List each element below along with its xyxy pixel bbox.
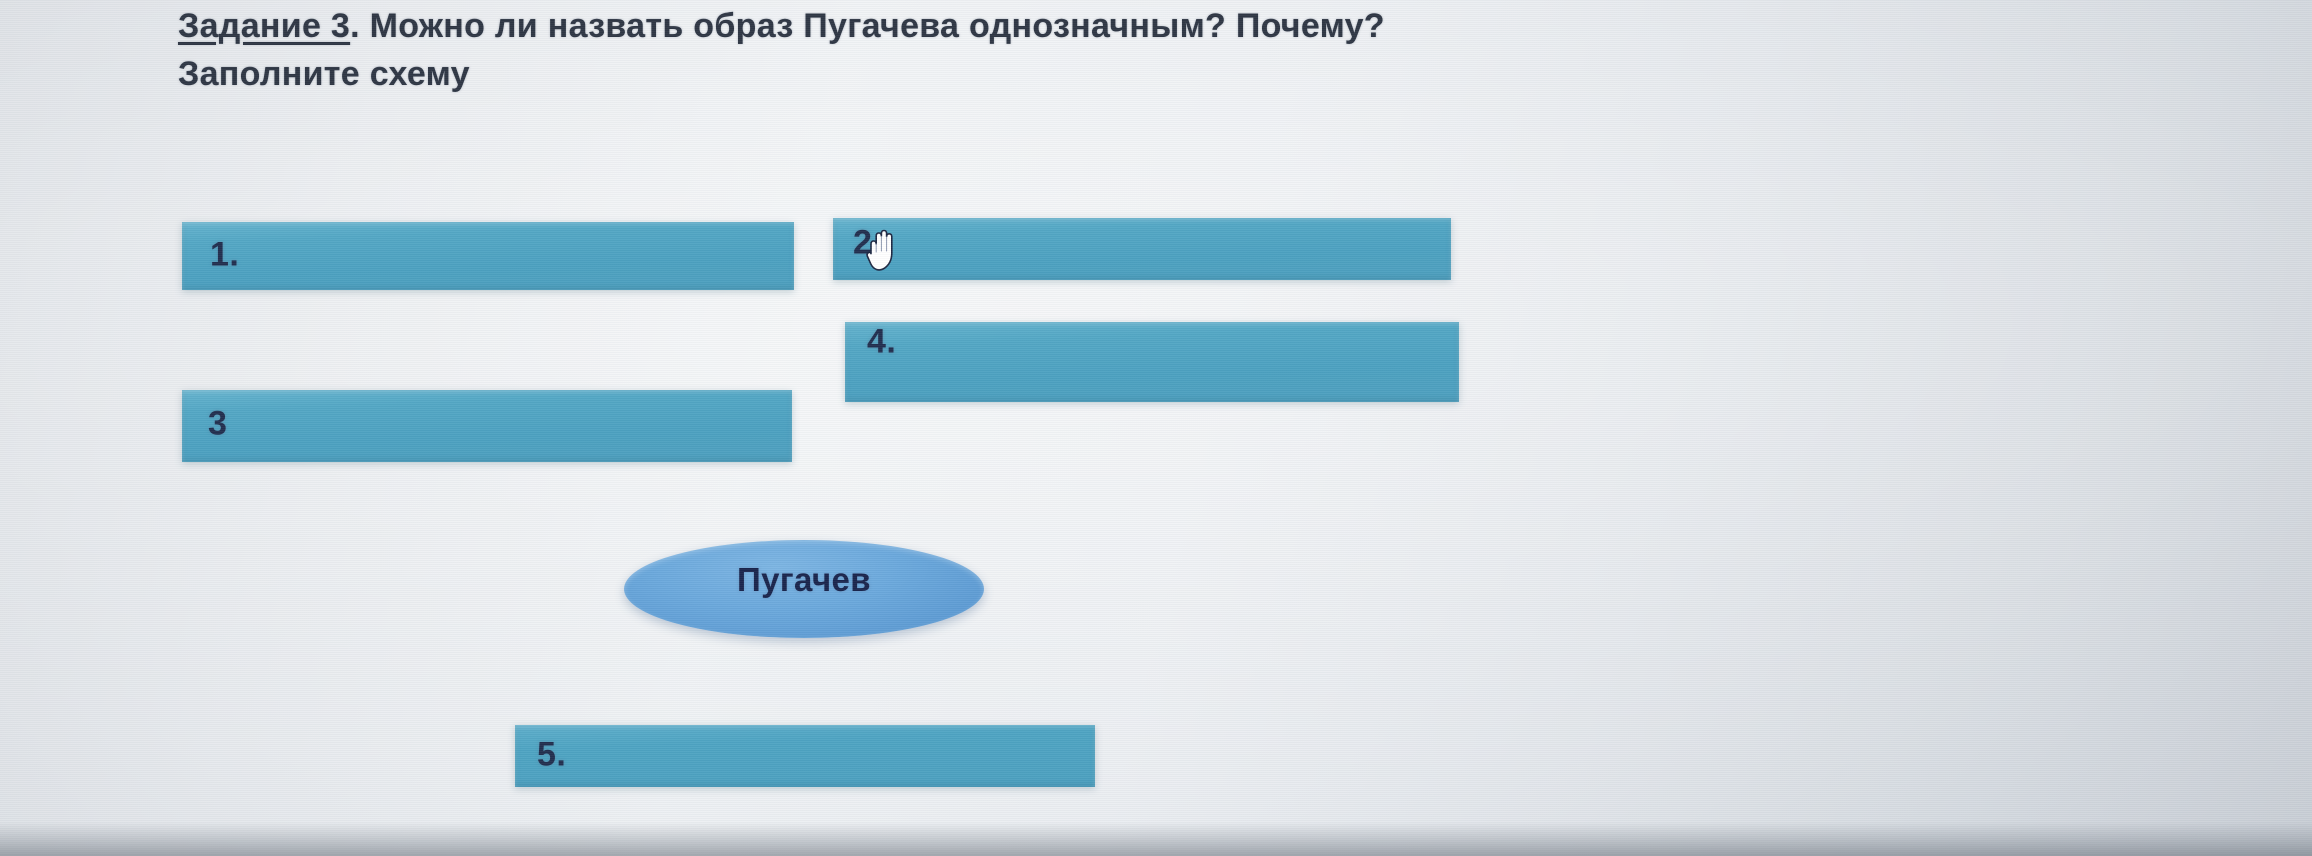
scheme-box-1[interactable]: 1. <box>182 222 794 290</box>
task-label: Задание 3 <box>178 7 350 45</box>
scheme-box-2-label: 2 <box>853 224 872 263</box>
scheme-box-5[interactable]: 5. <box>515 725 1095 787</box>
scheme-box-3-label: 3 <box>208 404 227 443</box>
scheme-box-4-label: 4. <box>867 323 896 362</box>
scheme-center-label: Пугачев <box>737 561 871 599</box>
task-instruction: Заполните схему <box>178 50 2178 98</box>
scheme-box-4[interactable]: 4. <box>845 322 1459 402</box>
scheme-box-5-label: 5. <box>537 736 566 775</box>
scheme-center-ellipse[interactable]: Пугачев <box>624 540 984 638</box>
scheme-box-2[interactable]: 2 <box>833 218 1451 280</box>
presentation-slide: Задание 3. Можно ли назвать образ Пугаче… <box>0 0 2312 856</box>
scheme-box-1-label: 1. <box>210 236 239 275</box>
page-title: Задание 3. Можно ли назвать образ Пугаче… <box>178 2 2178 99</box>
task-question: . Можно ли назвать образ Пугачева однозн… <box>350 7 1385 45</box>
scheme-box-3[interactable]: 3 <box>182 390 792 462</box>
